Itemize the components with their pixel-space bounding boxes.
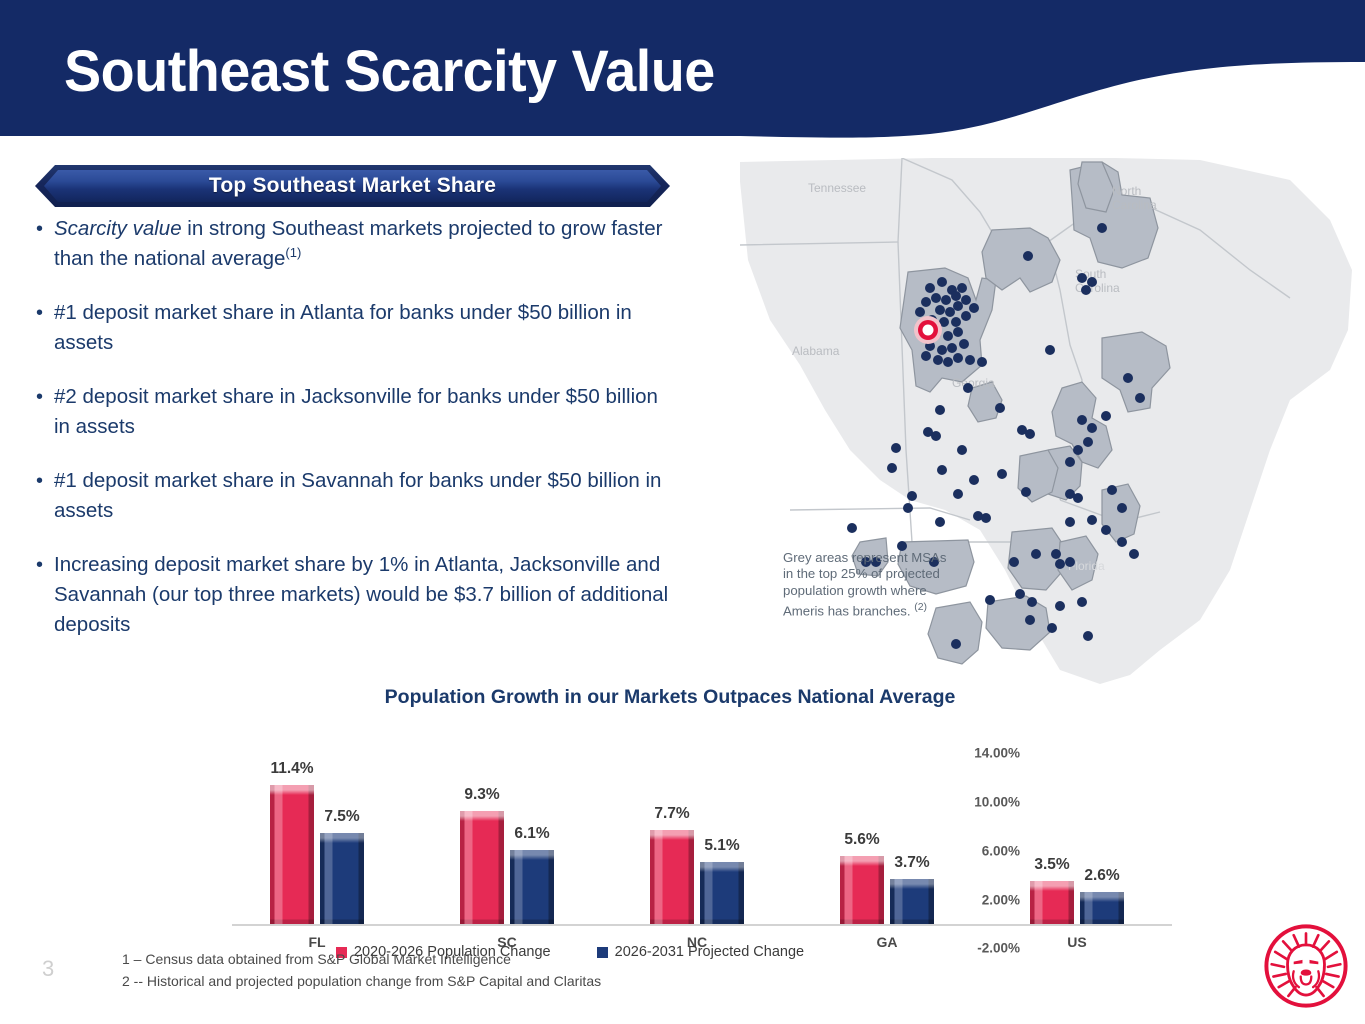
bullet-body: #1 deposit market share in Atlanta for b… bbox=[54, 301, 632, 354]
state-label-tennessee: Tennessee bbox=[808, 181, 866, 195]
chart-bar-fill bbox=[460, 811, 504, 924]
bullet-emphasis: Scarcity value bbox=[54, 217, 182, 240]
bullet-marker-icon: • bbox=[36, 466, 54, 526]
ameris-lion-logo-icon bbox=[1262, 922, 1350, 1010]
bullet-marker-icon: • bbox=[36, 382, 54, 442]
footnote-line: 1 – Census data obtained from S&P Global… bbox=[122, 948, 601, 970]
chart-bar: 6.1% bbox=[510, 850, 554, 924]
footnote-line: 2 -- Historical and projected population… bbox=[122, 970, 601, 992]
bullet-body: Increasing deposit market share by 1% in… bbox=[54, 553, 668, 636]
chart-bar: 7.7% bbox=[650, 830, 694, 924]
chart-category-label: US bbox=[1067, 934, 1086, 950]
chart-bar: 11.4% bbox=[270, 785, 314, 924]
population-growth-chart: Population Growth in our Markets Outpace… bbox=[120, 686, 1020, 966]
chart-baseline bbox=[232, 924, 1172, 926]
bullet-body: #2 deposit market share in Jacksonville … bbox=[54, 385, 658, 438]
chart-bar-value-label: 5.1% bbox=[704, 837, 739, 855]
bullet-item: •#1 deposit market share in Savannah for… bbox=[36, 466, 676, 526]
chart-title: Population Growth in our Markets Outpace… bbox=[330, 686, 1010, 709]
chart-bar-value-label: 2.6% bbox=[1084, 867, 1119, 885]
chart-bar: 5.1% bbox=[700, 862, 744, 924]
bullet-item: •#2 deposit market share in Jacksonville… bbox=[36, 382, 676, 442]
chart-bar-fill bbox=[840, 856, 884, 924]
chart-bar-fill bbox=[270, 785, 314, 924]
chart-legend-label: 2026-2031 Projected Change bbox=[615, 944, 804, 960]
state-label-north-carolina-2: Carolina bbox=[1112, 198, 1157, 212]
bullet-footnote-ref: (1) bbox=[285, 245, 301, 260]
bullet-marker-icon: • bbox=[36, 298, 54, 358]
state-label-alabama: Alabama bbox=[792, 344, 840, 358]
section-banner: Top Southeast Market Share bbox=[35, 165, 670, 207]
chart-y-tick: 6.00% bbox=[920, 843, 1020, 858]
bullet-text: #1 deposit market share in Savannah for … bbox=[54, 466, 676, 526]
bullet-text: #2 deposit market share in Jacksonville … bbox=[54, 382, 676, 442]
chart-y-tick: 10.00% bbox=[920, 795, 1020, 810]
bullet-marker-icon: • bbox=[36, 214, 54, 274]
page-number: 3 bbox=[42, 956, 54, 982]
chart-bar-fill bbox=[700, 862, 744, 924]
chart-bar: 9.3% bbox=[460, 811, 504, 924]
chart-bar-value-label: 3.5% bbox=[1034, 856, 1069, 874]
slide-root: Southeast Scarcity Value Top Southeast M… bbox=[0, 0, 1365, 1024]
chart-bar: 3.7% bbox=[890, 879, 934, 924]
chart-plot-area: -2.00%2.00%6.00%10.00%14.00%11.4%7.5%FL9… bbox=[120, 710, 1020, 926]
chart-legend-item[interactable]: 2026-2031 Projected Change bbox=[597, 944, 804, 960]
state-label-north-carolina: North bbox=[1112, 184, 1141, 198]
chart-bar: 3.5% bbox=[1030, 881, 1074, 924]
chart-bar-fill bbox=[650, 830, 694, 924]
chart-bar-value-label: 3.7% bbox=[894, 854, 929, 872]
chart-bar-fill bbox=[890, 879, 934, 924]
chart-bar: 7.5% bbox=[320, 833, 364, 925]
bullet-marker-icon: • bbox=[36, 550, 54, 640]
page-title: Southeast Scarcity Value bbox=[64, 38, 715, 105]
chart-bar-value-label: 5.6% bbox=[844, 831, 879, 849]
chart-bar-value-label: 9.3% bbox=[464, 786, 499, 804]
chart-bar: 2.6% bbox=[1080, 892, 1124, 924]
bullet-item: •Scarcity value in strong Southeast mark… bbox=[36, 214, 676, 274]
bullet-text: Scarcity value in strong Southeast marke… bbox=[54, 214, 676, 274]
chart-bar-fill bbox=[1080, 892, 1124, 924]
headquarters-marker bbox=[914, 316, 942, 344]
chart-bar-value-label: 11.4% bbox=[270, 760, 313, 778]
bullet-item: •#1 deposit market share in Atlanta for … bbox=[36, 298, 676, 358]
chart-bar: 5.6% bbox=[840, 856, 884, 924]
chart-bar-value-label: 7.5% bbox=[324, 808, 359, 826]
map-caption-footnote-ref: (2) bbox=[914, 601, 927, 613]
map-caption: Grey areas represent MSAs in the top 25%… bbox=[783, 550, 958, 620]
chart-bar-value-label: 7.7% bbox=[654, 805, 689, 823]
chart-bar-fill bbox=[510, 850, 554, 924]
chart-y-tick: 2.00% bbox=[920, 892, 1020, 907]
footnotes: 1 – Census data obtained from S&P Global… bbox=[122, 948, 601, 992]
bullet-text: Increasing deposit market share by 1% in… bbox=[54, 550, 676, 640]
bullet-list: •Scarcity value in strong Southeast mark… bbox=[36, 214, 676, 664]
chart-bar-value-label: 6.1% bbox=[514, 825, 549, 843]
bullet-item: •Increasing deposit market share by 1% i… bbox=[36, 550, 676, 640]
chart-bar-fill bbox=[320, 833, 364, 925]
chart-bar-fill bbox=[1030, 881, 1074, 924]
chart-y-tick: 14.00% bbox=[920, 746, 1020, 761]
bullet-body: #1 deposit market share in Savannah for … bbox=[54, 469, 661, 522]
state-label-georgia: Georgia bbox=[952, 376, 995, 390]
bullet-text: #1 deposit market share in Atlanta for b… bbox=[54, 298, 676, 358]
section-banner-label: Top Southeast Market Share bbox=[35, 165, 670, 207]
